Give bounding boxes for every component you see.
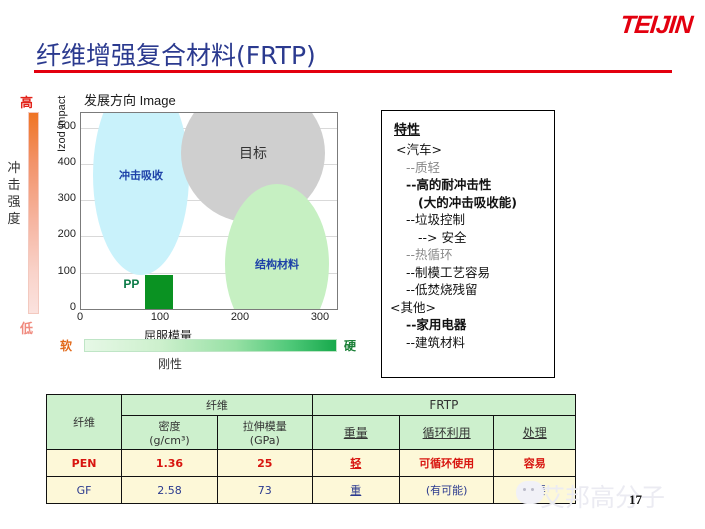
feature-line: --低焚烧残留	[390, 281, 546, 299]
table-cell-modulus: 25	[217, 450, 312, 477]
chart-caption: 发展方向 Image	[84, 90, 176, 109]
feature-line: --高的耐冲击性	[390, 176, 546, 194]
impact-high-label: 高	[20, 92, 33, 111]
features-title: 特性	[394, 119, 546, 138]
feature-line: --垃圾控制	[390, 211, 546, 229]
chart-y-tick: 200	[42, 228, 76, 240]
table-sub-header: 处理	[494, 416, 576, 450]
feature-line: --质轻	[390, 159, 546, 177]
table-row: PEN1.3625轻可循环使用容易	[47, 450, 576, 477]
table-cell-weight: 重	[312, 477, 399, 504]
table-cell-recycle: 可循环使用	[399, 450, 494, 477]
table-sub-header: 循环利用	[399, 416, 494, 450]
chart-y-tick: 400	[42, 156, 76, 168]
chart-y-tick: 300	[42, 192, 76, 204]
chart-plot-area: 冲击吸收目标结构材料PP	[80, 112, 338, 310]
table-group-header: 纤维	[47, 395, 122, 450]
table-cell-density: 2.58	[122, 477, 218, 504]
table-header-row: 纤维纤维FRTP	[47, 395, 576, 416]
stiffness-caption: 刚性	[158, 355, 182, 372]
feature-line: --> 安全	[390, 229, 546, 247]
table-cell-recycle: (有可能)	[399, 477, 494, 504]
page-title: 纤维增强复合材料(FRTP)	[36, 36, 316, 72]
stiffness-soft-label: 软	[60, 337, 72, 354]
feature-line: --制模工艺容易	[390, 264, 546, 282]
feature-line: --热循环	[390, 246, 546, 264]
table-sub-header: 重量	[312, 416, 399, 450]
table-group-header: 纤维	[122, 395, 313, 416]
chart-marker-PP	[145, 275, 173, 310]
comparison-table: 纤维纤维FRTP密度(g/cm³)拉伸模量(GPa)重量循环利用处理PEN1.3…	[46, 394, 576, 504]
impact-low-label: 低	[20, 318, 33, 337]
impact-strength-label: 冲击强度	[4, 160, 24, 228]
chart-bubble-冲击吸收: 冲击吸收	[93, 112, 189, 275]
table-group-header: FRTP	[312, 395, 575, 416]
chart-x-tick: 100	[140, 311, 180, 323]
feature-line: --建筑材料	[390, 334, 546, 352]
feature-line: <其他>	[390, 299, 546, 317]
impact-strength-gradient-bar	[28, 112, 39, 314]
chart-x-tick: 300	[300, 311, 340, 323]
stiffness-hard-label: 硬	[344, 337, 356, 354]
chart-bubble-label: 目标	[239, 143, 267, 163]
table-subheader-row: 密度(g/cm³)拉伸模量(GPa)重量循环利用处理	[47, 416, 576, 450]
stiffness-gradient-bar	[84, 339, 337, 352]
feature-line: --家用电器	[390, 316, 546, 334]
chart-bubble-label: 结构材料	[255, 256, 299, 272]
chart-bubble-label: 冲击吸收	[119, 167, 163, 183]
chart-marker-label-PP: PP	[123, 277, 139, 291]
chart-y-ticks: 0100200300400500	[40, 112, 76, 308]
table-cell-modulus: 73	[217, 477, 312, 504]
chart-x-tick: 0	[60, 311, 100, 323]
table-cell-disposal: 容易	[494, 450, 576, 477]
table-row: GF2.5873重(有可能)需要	[47, 477, 576, 504]
table-cell-fiber: PEN	[47, 450, 122, 477]
table-sub-header: 拉伸模量(GPa)	[217, 416, 312, 450]
table-cell-density: 1.36	[122, 450, 218, 477]
teijin-logo: TEIJIN	[591, 12, 694, 38]
title-divider	[34, 70, 672, 73]
chart-y-tick: 100	[42, 265, 76, 277]
chart-x-ticks: 0100200300	[60, 311, 360, 327]
chart-x-tick: 200	[220, 311, 260, 323]
table-sub-header: 密度(g/cm³)	[122, 416, 218, 450]
chart-y-tick: 500	[42, 120, 76, 132]
table-cell-fiber: GF	[47, 477, 122, 504]
table-cell-weight: 轻	[312, 450, 399, 477]
feature-line: <汽车>	[390, 141, 546, 159]
watermark-text: 艾邦高分子	[540, 478, 665, 514]
page-number: 17	[629, 492, 642, 508]
features-list: <汽车>--质轻--高的耐冲击性(大的冲击吸收能)--垃圾控制--> 安全--热…	[390, 141, 546, 351]
feature-line: (大的冲击吸收能)	[390, 194, 546, 212]
features-panel: 特性 <汽车>--质轻--高的耐冲击性(大的冲击吸收能)--垃圾控制--> 安全…	[381, 110, 555, 378]
